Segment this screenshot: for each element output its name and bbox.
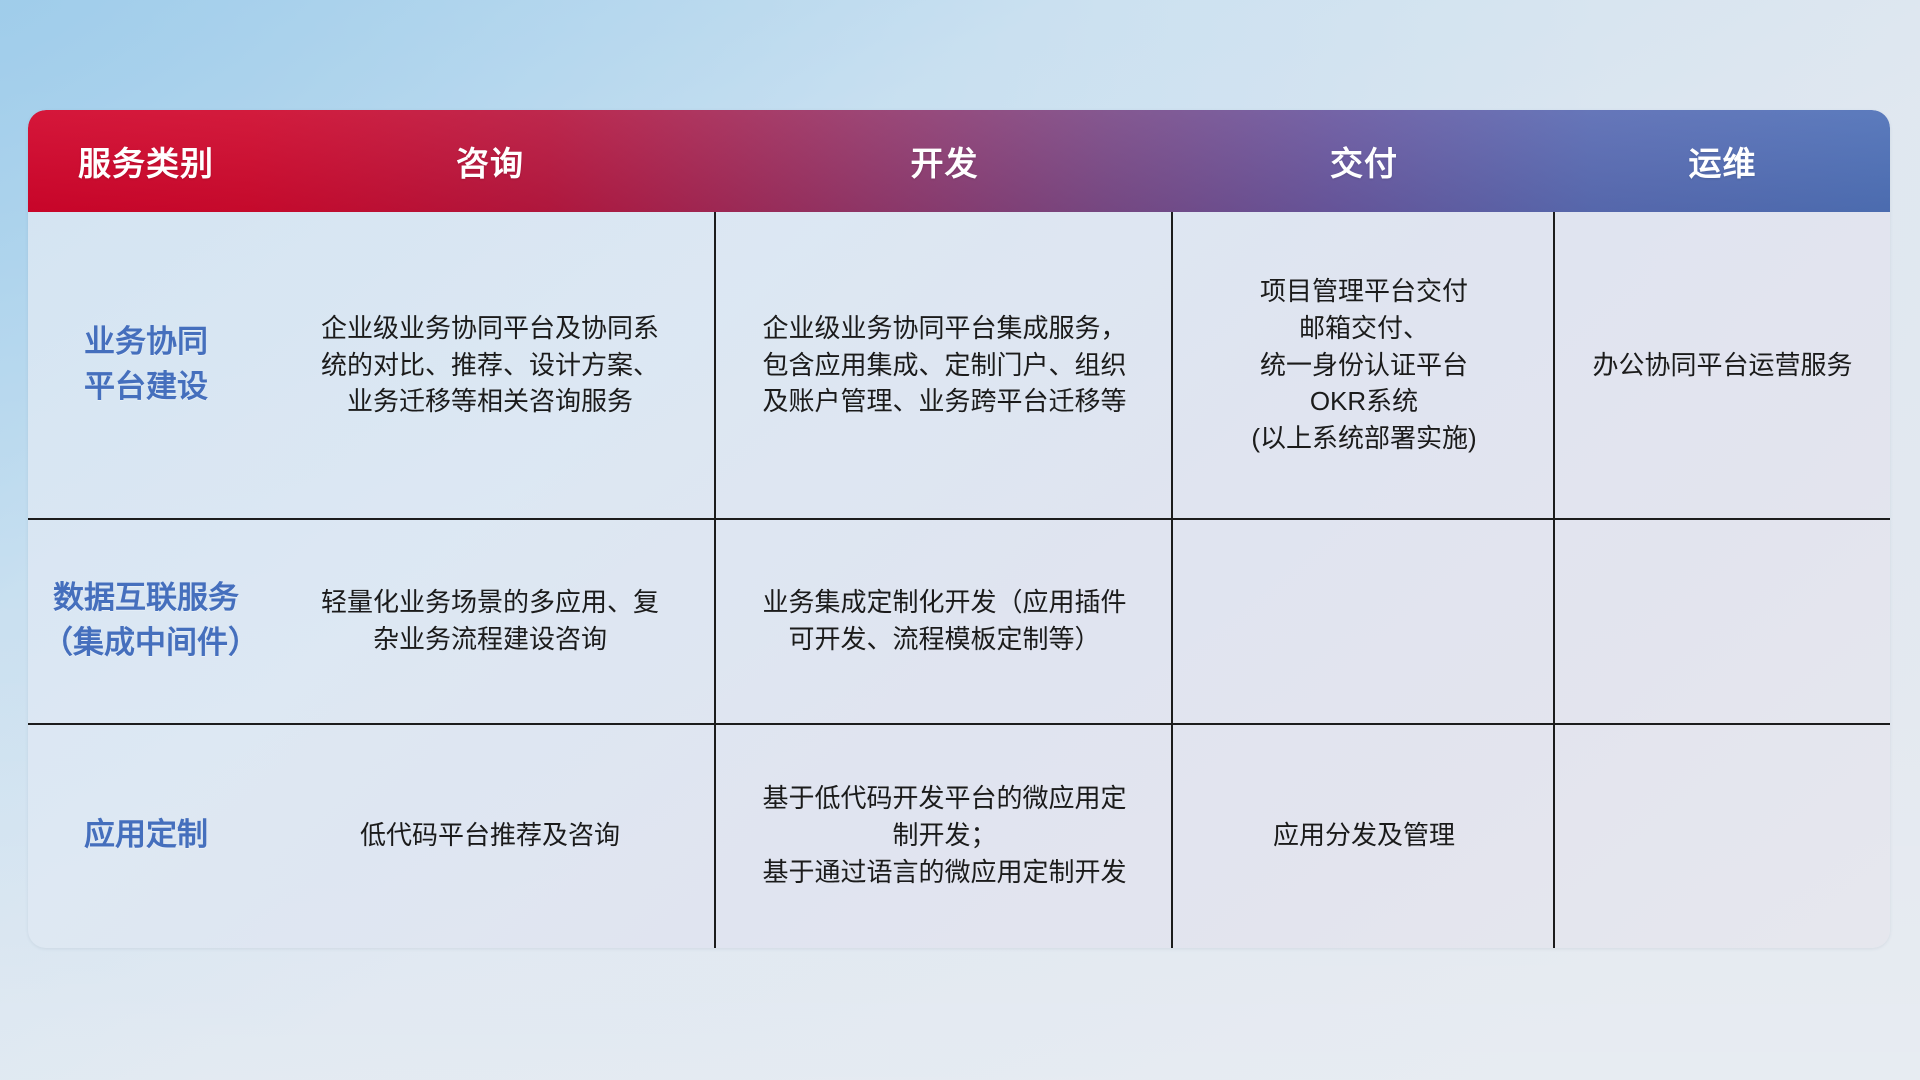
row-1-development-cell: 企业级业务协同平台集成服务， 包含应用集成、定制门户、组织 及账户管理、业务跨平…	[716, 212, 1173, 518]
row-2-delivery-cell	[1173, 518, 1555, 723]
row-2-category-cell: 数据互联服务 （集成中间件）	[28, 518, 264, 723]
column-header-development: 开发	[716, 110, 1173, 212]
service-matrix-table: 服务类别 咨询 开发 交付 运维 业务协同 平台建设 企业级业务协同平台及协同系…	[28, 110, 1890, 948]
column-header-consulting: 咨询	[264, 110, 716, 212]
row-1-consulting-text: 企业级业务协同平台及协同系 统的对比、推荐、设计方案、 业务迁移等相关咨询服务	[321, 310, 659, 421]
row-1-operations-cell: 办公协同平台运营服务	[1555, 212, 1890, 518]
row-2-development-cell: 业务集成定制化开发（应用插件 可开发、流程模板定制等）	[716, 518, 1173, 723]
row-2-consulting-cell: 轻量化业务场景的多应用、复 杂业务流程建设咨询	[264, 518, 716, 723]
row-3-consulting-text: 低代码平台推荐及咨询	[360, 817, 620, 854]
row-1-delivery-text: 项目管理平台交付 邮箱交付、 统一身份认证平台 OKR系统 (以上系统部署实施)	[1251, 273, 1476, 458]
row-3-operations-cell	[1555, 723, 1890, 948]
table-header-row: 服务类别 咨询 开发 交付 运维	[28, 110, 1890, 212]
column-header-category: 服务类别	[28, 110, 264, 212]
row-1-delivery-cell: 项目管理平台交付 邮箱交付、 统一身份认证平台 OKR系统 (以上系统部署实施)	[1173, 212, 1555, 518]
table-row: 数据互联服务 （集成中间件） 轻量化业务场景的多应用、复 杂业务流程建设咨询 业…	[28, 518, 1890, 723]
row-3-category-label: 应用定制	[84, 813, 208, 858]
row-1-operations-text: 办公协同平台运营服务	[1592, 347, 1852, 384]
row-3-delivery-cell: 应用分发及管理	[1173, 723, 1555, 948]
row-3-consulting-cell: 低代码平台推荐及咨询	[264, 723, 716, 948]
row-2-development-text: 业务集成定制化开发（应用插件 可开发、流程模板定制等）	[762, 584, 1126, 658]
row-3-development-cell: 基于低代码开发平台的微应用定 制开发； 基于通过语言的微应用定制开发	[716, 723, 1173, 948]
row-1-category-cell: 业务协同 平台建设	[28, 212, 264, 518]
row-2-category-label: 数据互联服务 （集成中间件）	[42, 576, 250, 666]
row-1-consulting-cell: 企业级业务协同平台及协同系 统的对比、推荐、设计方案、 业务迁移等相关咨询服务	[264, 212, 716, 518]
row-1-development-text: 企业级业务协同平台集成服务， 包含应用集成、定制门户、组织 及账户管理、业务跨平…	[762, 310, 1126, 421]
column-divider-2	[1171, 212, 1173, 948]
table-body: 业务协同 平台建设 企业级业务协同平台及协同系 统的对比、推荐、设计方案、 业务…	[28, 212, 1890, 948]
row-3-category-cell: 应用定制	[28, 723, 264, 948]
table-row: 业务协同 平台建设 企业级业务协同平台及协同系 统的对比、推荐、设计方案、 业务…	[28, 212, 1890, 518]
column-header-operations: 运维	[1555, 110, 1890, 212]
row-2-consulting-text: 轻量化业务场景的多应用、复 杂业务流程建设咨询	[321, 584, 659, 658]
row-2-operations-cell	[1555, 518, 1890, 723]
row-1-category-label: 业务协同 平台建设	[84, 320, 208, 410]
column-divider-3	[1553, 212, 1555, 948]
row-3-development-text: 基于低代码开发平台的微应用定 制开发； 基于通过语言的微应用定制开发	[762, 780, 1126, 891]
column-header-delivery: 交付	[1173, 110, 1555, 212]
table-row: 应用定制 低代码平台推荐及咨询 基于低代码开发平台的微应用定 制开发； 基于通过…	[28, 723, 1890, 948]
column-divider-1	[714, 212, 716, 948]
row-3-delivery-text: 应用分发及管理	[1273, 817, 1455, 854]
